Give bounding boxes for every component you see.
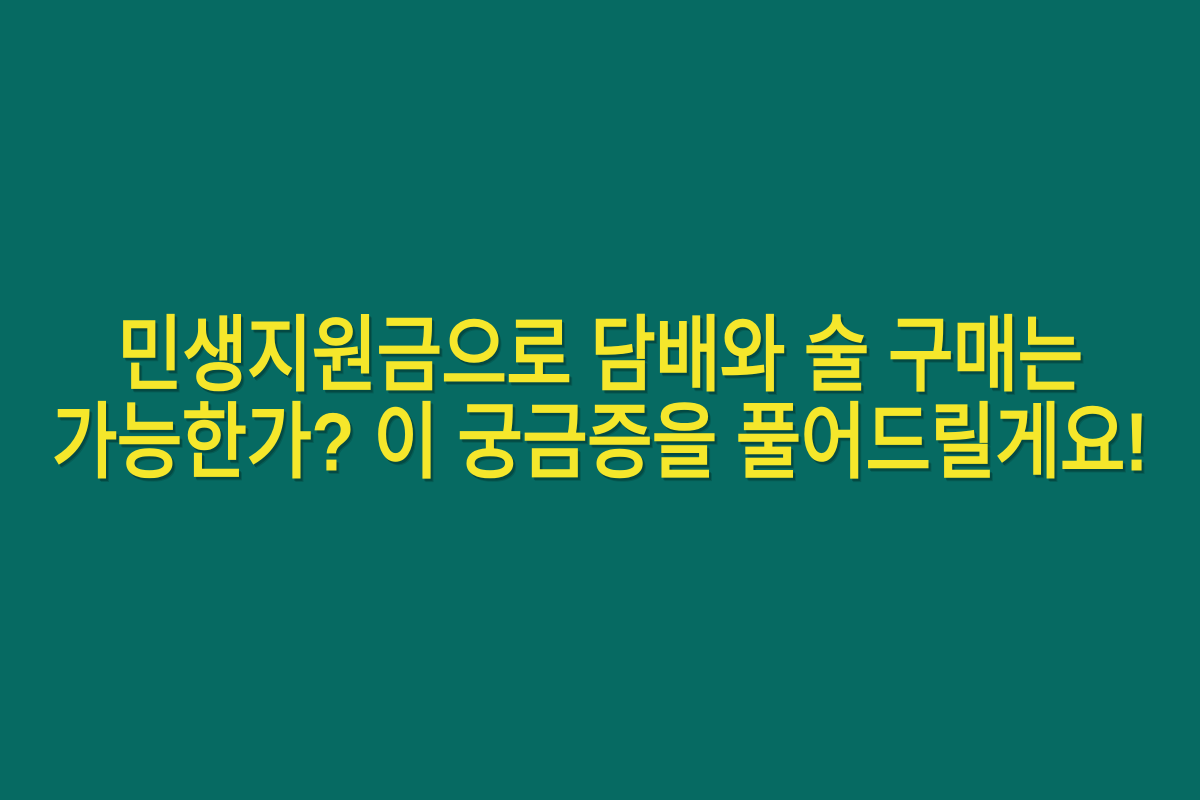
title-card-canvas: 민생지원금으로 담배와 술 구매는 가능한가? 이 궁금증을 풀어드릴게요! [0, 0, 1200, 800]
headline-block: 민생지원금으로 담배와 술 구매는 가능한가? 이 궁금증을 풀어드릴게요! [0, 318, 1200, 483]
headline-line-2: 가능한가? 이 궁금증을 풀어드릴게요! [0, 398, 1200, 488]
headline-line-1: 민생지원금으로 담배와 술 구매는 [0, 311, 1200, 401]
